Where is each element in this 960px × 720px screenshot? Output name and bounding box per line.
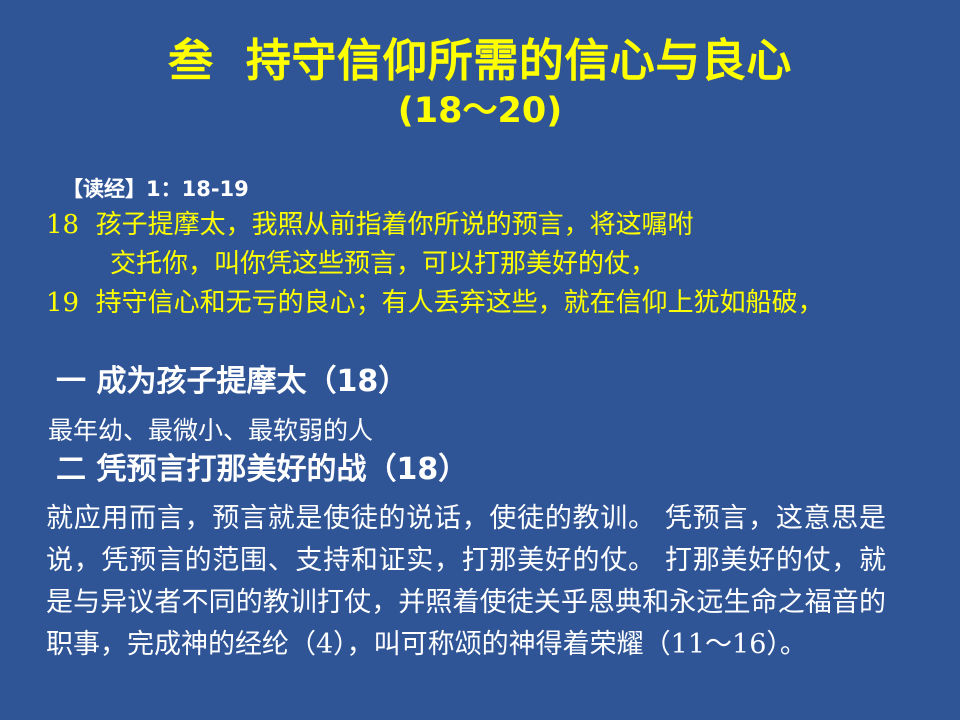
page-subtitle: (18～20)	[0, 89, 960, 133]
section-one-note: 最年幼、最微小、最软弱的人	[48, 414, 373, 448]
verse-18-line-2: 交托你，叫你凭这些预言，可以打那美好的仗，	[46, 245, 886, 284]
scripture-block: 18 孩子提摩太，我照从前指着你所说的预言，将这嘱咐 交托你，叫你凭这些预言，可…	[46, 206, 886, 323]
verse-19-line-1: 19 持守信心和无亏的良心；有人丢弃这些，就在信仰上犹如船破，	[46, 284, 886, 323]
slide-canvas: 叁 持守信仰所需的信心与良心 (18～20) 【读经】1：18-19 18 孩子…	[0, 0, 960, 720]
page-title: 叁 持守信仰所需的信心与良心	[0, 34, 960, 87]
slide-title-block: 叁 持守信仰所需的信心与良心 (18～20)	[0, 34, 960, 133]
section-two-body: 就应用而言，预言就是使徒的说话，使徒的教训。 凭预言，这意思是说，凭预言的范围、…	[46, 498, 886, 666]
reading-reference: 【读经】1：18-19	[62, 176, 249, 202]
section-heading-two: 二 凭预言打那美好的战（18）	[56, 452, 468, 488]
section-heading-one: 一 成为孩子提摩太（18）	[56, 364, 408, 400]
verse-18-line-1: 18 孩子提摩太，我照从前指着你所说的预言，将这嘱咐	[46, 206, 886, 245]
